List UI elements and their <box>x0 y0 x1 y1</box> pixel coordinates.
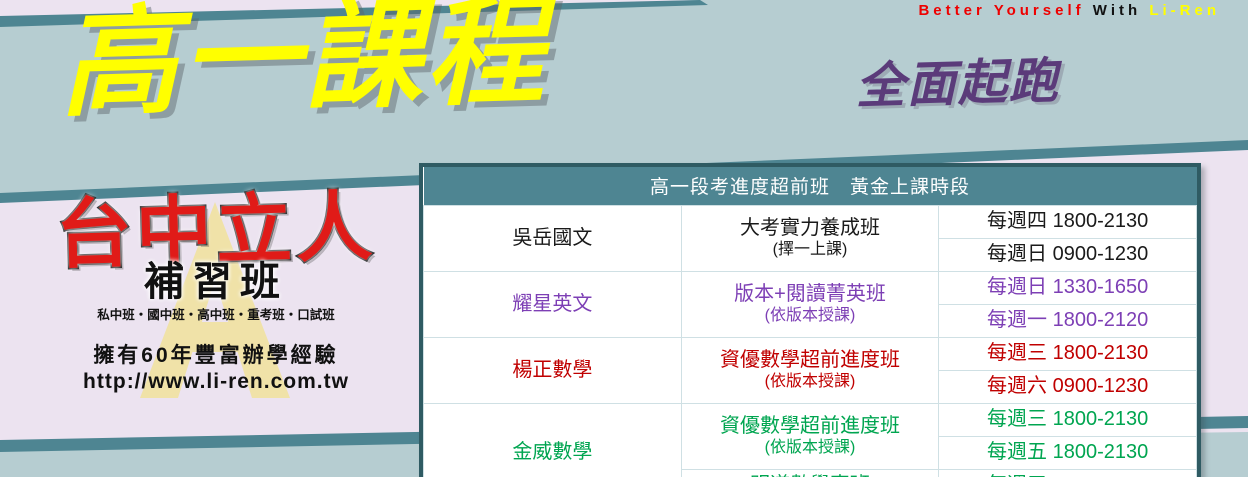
teacher-cell: 金威數學 <box>424 404 682 477</box>
time-cell: 每週四 1800-2130 <box>939 206 1197 239</box>
course-note: (依版本授課) <box>686 373 935 392</box>
table-row: 金威數學資優數學超前進度班(依版本授課)每週三 1800-2130 <box>424 404 1197 437</box>
table-row: 耀星英文版本+閱讀菁英班(依版本授課)每週日 1330-1650 <box>424 272 1197 305</box>
tagline-part-3: Li-Ren <box>1149 2 1220 19</box>
teacher-cell: 吳岳國文 <box>424 206 682 272</box>
schedule-header-row: 高一段考進度超前班 黃金上課時段 <box>424 167 1197 206</box>
course-name: 資優數學超前進度班 <box>686 349 935 373</box>
time-cell: 每週三 1800-2130 <box>939 404 1197 437</box>
course-name: 版本+閱讀菁英班 <box>686 283 935 307</box>
time-cell: 每週三 1815-2130 <box>939 470 1197 477</box>
logo-website-url[interactable]: http://www.li-ren.com.tw <box>36 370 396 394</box>
subheadline: 全面起跑 <box>855 57 1060 112</box>
time-cell: 每週日 1330-1650 <box>939 272 1197 305</box>
course-note: (擇一上課) <box>686 241 935 260</box>
schedule-table: 高一段考進度超前班 黃金上課時段 吳岳國文大考實力養成班(擇一上課)每週四 18… <box>423 167 1197 477</box>
table-row: 吳岳國文大考實力養成班(擇一上課)每週四 1800-2130 <box>424 206 1197 239</box>
time-cell: 每週一 1800-2120 <box>939 305 1197 338</box>
headline: 高一課程 <box>58 0 549 124</box>
time-cell: 每週三 1800-2130 <box>939 338 1197 371</box>
schedule-header-title: 高一段考進度超前班 黃金上課時段 <box>424 167 1197 206</box>
schedule-body: 吳岳國文大考實力養成班(擇一上課)每週四 1800-2130每週日 0900-1… <box>424 206 1197 477</box>
time-cell: 每週五 1800-2130 <box>939 437 1197 470</box>
tagline-part-1: Better Yourself <box>918 2 1084 19</box>
course-cell: 資優數學超前進度班(依版本授課) <box>681 338 939 404</box>
logo-block: 台中立人 補習班 私中班・國中班・高中班・重考班・口試班 擁有60年豐富辦學經驗… <box>36 196 396 394</box>
schedule-table-container: 高一段考進度超前班 黃金上課時段 吳岳國文大考實力養成班(擇一上課)每週四 18… <box>419 163 1201 477</box>
course-cell: 資優數學超前進度班(依版本授課) <box>681 404 939 470</box>
logo-sub-text: 補習班 <box>36 262 396 302</box>
logo-class-list: 私中班・國中班・高中班・重考班・口試班 <box>36 304 396 323</box>
schedule-thead: 高一段考進度超前班 黃金上課時段 <box>424 167 1197 206</box>
time-cell: 每週日 0900-1230 <box>939 239 1197 272</box>
course-cell: 大考實力養成班(擇一上課) <box>681 206 939 272</box>
promotional-banner: Better Yourself With Li-Ren 高一課程 全面起跑 台中… <box>0 0 1248 477</box>
course-name: 資優數學超前進度班 <box>686 415 935 439</box>
table-row: 楊正數學資優數學超前進度班(依版本授課)每週三 1800-2130 <box>424 338 1197 371</box>
logo-experience-text: 擁有60年豐富辦學經驗 <box>36 339 396 369</box>
course-name: 大考實力養成班 <box>686 217 935 241</box>
course-note: (依版本授課) <box>686 307 935 326</box>
course-cell: 版本+閱讀菁英班(依版本授課) <box>681 272 939 338</box>
course-cell: 明道數學專班 <box>681 470 939 477</box>
tagline-part-2: With <box>1093 2 1141 19</box>
course-note: (依版本授課) <box>686 439 935 458</box>
time-cell: 每週六 0900-1230 <box>939 371 1197 404</box>
teacher-cell: 耀星英文 <box>424 272 682 338</box>
teacher-cell: 楊正數學 <box>424 338 682 404</box>
